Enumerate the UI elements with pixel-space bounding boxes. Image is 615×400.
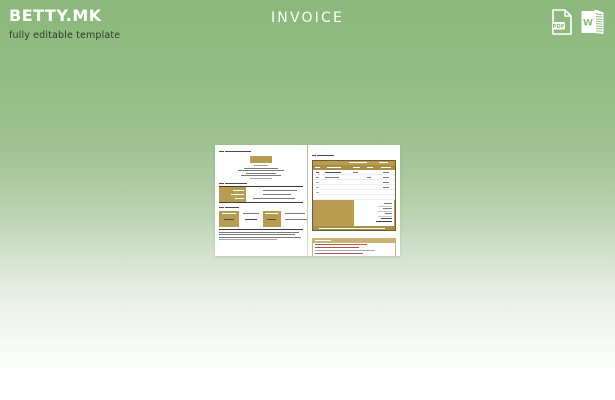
line-items-rows [313,170,395,200]
line-items-footer [313,226,395,230]
payment-notes-box [312,238,396,256]
invoice-page-1[interactable] [215,145,307,256]
page-title: INVOICE [0,10,615,26]
brand-tagline: fully editable template [9,30,239,41]
terms-section-label [219,207,303,208]
terms-box-3 [263,211,281,227]
format-icons-group: PDF W [550,8,604,36]
terms-boxes [219,211,303,227]
app-canvas: BETTY.MK fully editable template INVOICE… [0,0,615,400]
page-1-notes [219,229,303,241]
invoice-totals [313,200,395,226]
company-logo-placeholder [250,156,272,163]
svg-text:PDF: PDF [552,24,564,30]
page-1-heading [219,151,303,152]
line-items-table [312,160,396,231]
bill-to-table [219,186,303,203]
document-preview[interactable] [215,145,400,256]
pdf-file-icon[interactable]: PDF [550,8,574,36]
bill-to-values [246,187,303,202]
terms-box-1 [219,211,239,227]
svg-text:W: W [583,19,593,29]
page-header: BETTY.MK fully editable template INVOICE… [0,0,615,48]
payment-notes-body [313,243,395,256]
word-file-icon[interactable]: W [580,8,604,36]
bill-to-section-label [219,183,303,184]
terms-box-2 [240,211,262,227]
page-1-content [219,149,303,253]
payment-notes-header [313,239,395,243]
company-info-block [233,165,289,179]
terms-box-4 [282,211,303,227]
invoice-page-2[interactable] [308,145,400,256]
bill-to-labels [219,187,246,202]
page-2-heading [312,155,396,156]
page-2-content [312,149,396,253]
